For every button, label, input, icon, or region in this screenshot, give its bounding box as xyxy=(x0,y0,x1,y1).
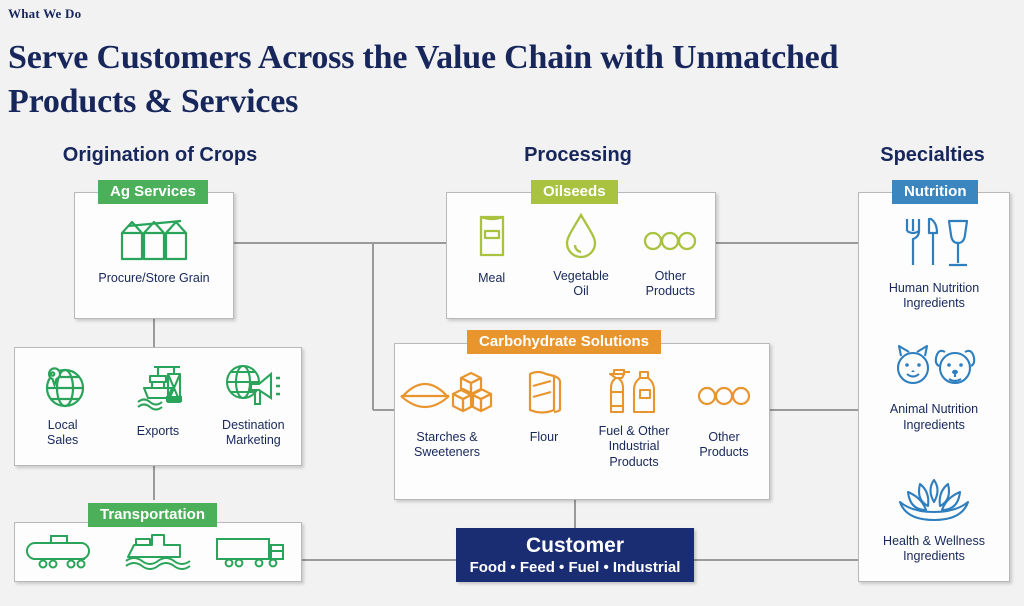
animal-nutrition-label: Animal Nutrition Ingredients xyxy=(890,402,978,433)
truck-item xyxy=(206,531,301,589)
truck-icon xyxy=(211,531,295,571)
flour-item: Flour xyxy=(499,366,589,521)
meal-label: Meal xyxy=(478,271,505,286)
page-title: Serve Customers Across the Value Chain w… xyxy=(8,36,868,123)
customer-title: Customer xyxy=(526,534,624,557)
meal-item: Meal xyxy=(447,211,536,336)
fuel-industrial-item: Fuel & Other Industrial Products xyxy=(589,366,679,521)
fuel-industrial-label: Fuel & Other Industrial Products xyxy=(599,424,670,470)
eyebrow-label: What We Do xyxy=(8,6,81,22)
ag-services-item: Procure/Store Grain xyxy=(75,215,233,340)
origination-channels-card[interactable]: Local Sales xyxy=(14,347,302,466)
globe-pin-icon xyxy=(35,362,91,412)
vegetable-oil-label: Vegetable Oil xyxy=(553,269,609,300)
spray-bottle-jug-icon xyxy=(604,366,664,418)
exports-item: Exports xyxy=(110,362,205,479)
health-wellness-item: Health & Wellness Ingredients xyxy=(859,476,1009,581)
human-nutrition-label: Human Nutrition Ingredients xyxy=(889,281,979,312)
oilseeds-card[interactable]: Meal Vegetable Oil xyxy=(446,192,716,319)
meal-bag-icon xyxy=(470,211,514,263)
oilseeds-other-label: Other Products xyxy=(646,269,695,300)
oil-droplet-icon xyxy=(559,211,603,263)
carbohydrate-solutions-badge[interactable]: Carbohydrate Solutions xyxy=(467,330,661,354)
ag-services-item-label: Procure/Store Grain xyxy=(98,271,209,286)
nutrition-card[interactable]: Human Nutrition Ingredients xyxy=(858,192,1010,582)
transportation-badge[interactable]: Transportation xyxy=(88,503,217,527)
customer-banner[interactable]: Customer Food • Feed • Fuel • Industrial xyxy=(456,528,694,582)
barge-item xyxy=(110,531,205,589)
three-circles-icon xyxy=(693,366,755,418)
nutrition-badge[interactable]: Nutrition xyxy=(892,180,978,204)
ag-services-card[interactable]: Procure/Store Grain xyxy=(74,192,234,319)
health-wellness-label: Health & Wellness Ingredients xyxy=(883,534,985,565)
fork-knife-glass-icon xyxy=(897,215,971,271)
port-crane-ship-icon xyxy=(128,362,188,412)
column-title-specialties: Specialties xyxy=(845,144,1020,167)
local-sales-item: Local Sales xyxy=(15,362,110,479)
local-sales-label: Local Sales xyxy=(47,418,78,449)
oilseeds-other-item: Other Products xyxy=(626,211,715,336)
cat-dog-icon xyxy=(889,344,979,394)
globe-megaphone-icon xyxy=(221,362,285,412)
transportation-card[interactable] xyxy=(14,522,302,582)
starches-sweeteners-label: Starches & Sweeteners xyxy=(414,430,480,461)
carb-other-item: Other Products xyxy=(679,366,769,521)
column-title-processing: Processing xyxy=(458,144,698,167)
rail-item xyxy=(15,531,110,589)
customer-subtitle: Food • Feed • Fuel • Industrial xyxy=(470,559,681,576)
barge-ship-icon xyxy=(118,531,198,571)
oilseeds-badge[interactable]: Oilseeds xyxy=(531,180,618,204)
human-nutrition-item: Human Nutrition Ingredients xyxy=(859,215,1009,320)
destination-marketing-item: Destination Marketing xyxy=(206,362,301,479)
rail-tanker-icon xyxy=(23,531,103,571)
column-title-origination: Origination of Crops xyxy=(40,144,280,167)
vegetable-oil-item: Vegetable Oil xyxy=(536,211,625,336)
ag-services-badge[interactable]: Ag Services xyxy=(98,180,208,204)
lotus-flower-icon xyxy=(896,476,972,526)
starch-bowl-sugar-cubes-icon xyxy=(395,366,499,418)
slide-canvas: What We Do Serve Customers Across the Va… xyxy=(0,0,1024,606)
animal-nutrition-item: Animal Nutrition Ingredients xyxy=(859,344,1009,449)
carbohydrate-solutions-card[interactable]: Starches & Sweeteners Flour xyxy=(394,343,770,500)
exports-label: Exports xyxy=(137,424,179,439)
carb-other-label: Other Products xyxy=(699,430,748,461)
destination-marketing-label: Destination Marketing xyxy=(222,418,285,449)
flour-bag-icon xyxy=(517,366,571,418)
flour-label: Flour xyxy=(530,430,558,445)
grain-bins-icon xyxy=(115,215,193,265)
starches-sweeteners-item: Starches & Sweeteners xyxy=(395,366,499,521)
three-circles-icon xyxy=(639,211,701,263)
